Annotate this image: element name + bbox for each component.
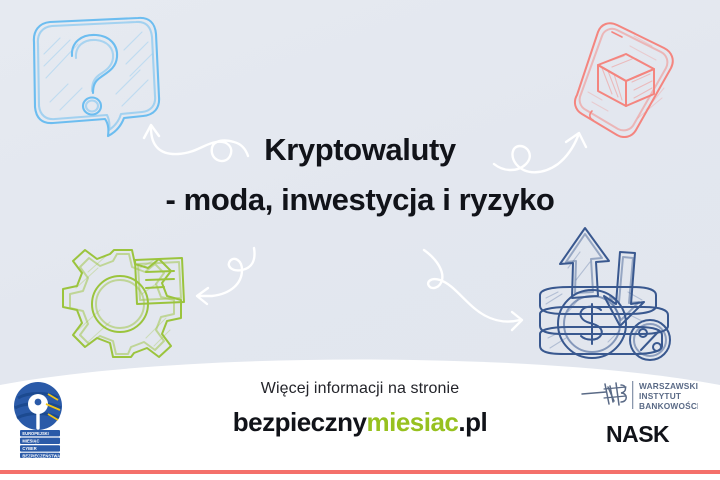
url-highlight: miesiac [366,407,458,437]
ecsm-line-2: MIESIĄC [22,439,39,444]
ecsm-line-4: BEZPIECZEŃSTWA [22,453,60,458]
wib-line-2: INSTYTUT [639,391,681,401]
nask-label: NASK [606,421,669,447]
title-line-2: - moda, inwestycja i ryzyko [0,180,720,221]
wib-line-1: WARSZAWSKI [639,381,698,391]
wib-logo: WARSZAWSKI INSTYTUT BANKOWOŚCI [580,377,698,413]
wib-line-3: BANKOWOŚCI [639,400,698,411]
ecsm-line-3: CYBER [22,446,36,451]
footer: EUROPEJSKI MIESIĄC CYBER BEZPIECZEŃSTWA … [0,355,720,480]
page-title: Kryptowaluty - moda, inwestycja i ryzyko [0,130,720,221]
promo-slide: Kryptowaluty - moda, inwestycja i ryzyko [0,0,720,480]
title-line-1: Kryptowaluty [0,130,720,171]
partner-logos: WARSZAWSKI INSTYTUT BANKOWOŚCI NASK [580,377,698,459]
nask-logo: NASK [606,421,698,447]
url-prefix: bezpieczny [233,407,367,437]
url-suffix: .pl [458,407,487,437]
bottom-accent-rule [0,470,720,474]
